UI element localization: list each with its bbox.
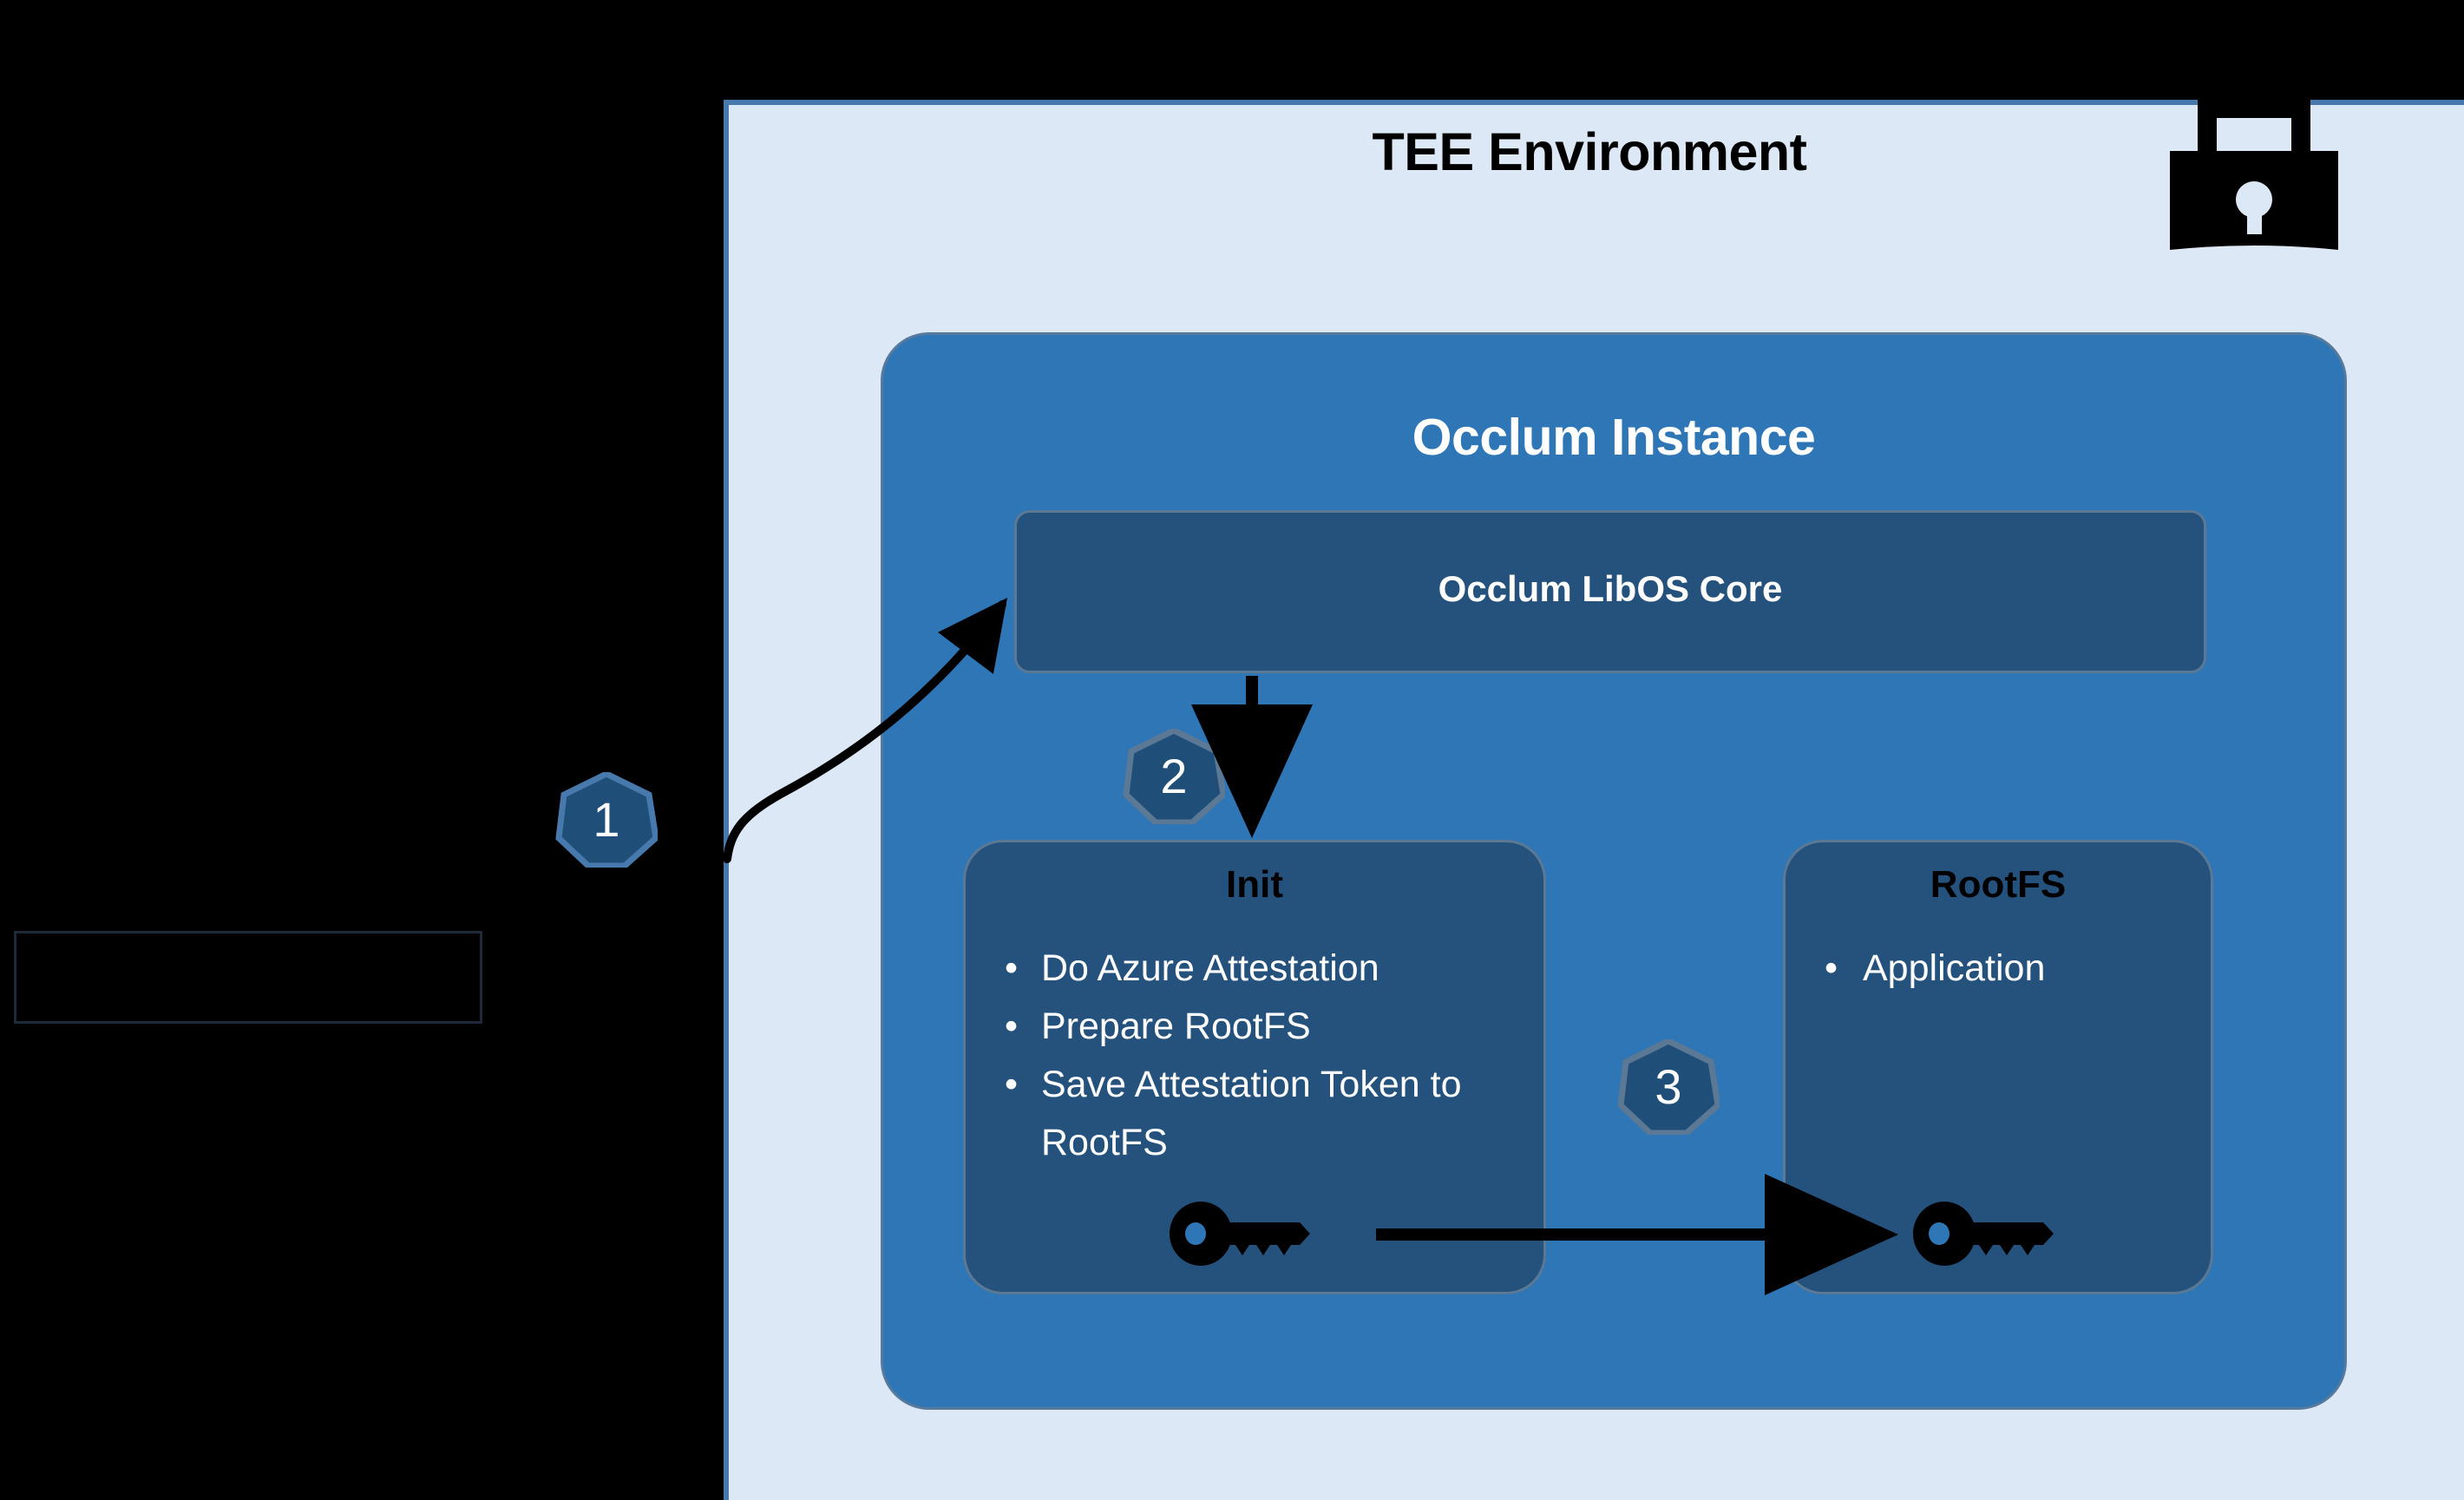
rootfs-bullet-list: •Application [1800, 940, 2199, 998]
list-item-label: Do Azure Attestation [1041, 947, 1379, 989]
key-icon [1913, 1202, 2062, 1266]
step-badge-3: 3 [1617, 1039, 1720, 1135]
list-item: •Application [1800, 940, 2199, 998]
list-item: •Do Azure Attestation [989, 940, 1527, 998]
init-title: Init [963, 863, 1546, 907]
step-number: 3 [1617, 1039, 1720, 1135]
occlum-libos-core-label: Occlum LibOS Core [1014, 568, 2206, 610]
bullet-glyph: • [1005, 1056, 1018, 1114]
step-badge-2: 2 [1123, 729, 1225, 824]
list-item: •Prepare RootFS [989, 998, 1527, 1056]
diagram-canvas: TEE Environment Occlum Instance Occlum L… [0, 0, 2464, 1500]
key-icon [1170, 1202, 1319, 1266]
padlock-icon [2163, 97, 2345, 258]
bullet-glyph: • [1005, 940, 1018, 998]
rootfs-title: RootFS [1783, 863, 2213, 907]
bullet-glyph: • [1005, 998, 1018, 1056]
step-number: 1 [555, 772, 658, 868]
empty-outlined-rectangle [14, 931, 482, 1024]
list-item-label: Application [1863, 947, 2045, 989]
list-item-label: Prepare RootFS [1041, 1005, 1311, 1047]
step-badge-1: 1 [555, 772, 658, 868]
list-item: •Save Attestation Token to RootFS [989, 1056, 1527, 1172]
init-bullet-list: •Do Azure Attestation •Prepare RootFS •S… [989, 940, 1527, 1172]
bullet-glyph: • [1825, 940, 1838, 998]
occlum-instance-title: Occlum Instance [881, 408, 2347, 467]
step-number: 2 [1123, 729, 1225, 824]
list-item-label: Save Attestation Token to RootFS [1041, 1064, 1462, 1163]
